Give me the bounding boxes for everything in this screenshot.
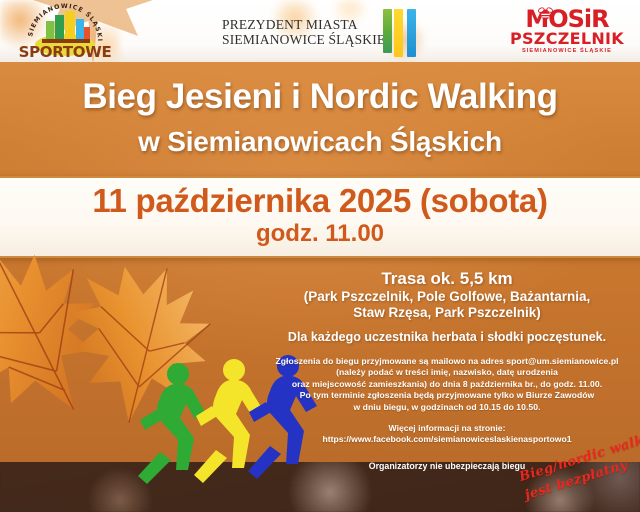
bee-icon (537, 5, 554, 22)
event-details: Trasa ok. 5,5 km (Park Pszczelnik, Pole … (258, 268, 636, 472)
svg-text:SPORTOWE: SPORTOWE (19, 43, 112, 61)
flag-bar-yellow (394, 9, 403, 57)
registration-line3: oraz miejscowość zamieszkania) do dnia 8… (258, 379, 636, 390)
page-subtitle: w Siemianowicach Śląskich (0, 125, 640, 159)
flag-bar-blue (407, 9, 416, 57)
route-places-line1: (Park Pszczelnik, Pole Golfowe, Bażantar… (258, 289, 636, 305)
president-line1: PREZYDENT MIASTA (222, 18, 385, 33)
more-info-label: Więcej informacji na stronie: (258, 423, 636, 434)
mosir-wordmark: MOSiR (510, 8, 624, 30)
registration-line2: (należy podać w treści imię, nazwisko, d… (258, 367, 636, 378)
event-poster: SIEMIANOWICE ŚLĄSKIE SPORTOWE PREZYDENT … (0, 0, 640, 512)
president-caption: PREZYDENT MIASTA SIEMIANOWICE ŚLĄSKIE (222, 18, 385, 47)
registration-line5: w dniu biegu, w godzinach od 10.15 do 10… (258, 402, 636, 413)
refreshments-note: Dla każdego uczestnika herbata i słodki … (258, 330, 636, 345)
city-flag-bars-icon (383, 9, 419, 57)
facebook-link[interactable]: https://www.facebook.com/siemianowicesla… (258, 434, 636, 445)
registration-line4: Po tym terminie zgłoszenia będą przyjmow… (258, 390, 636, 401)
event-date: 11 października 2025 (sobota) (0, 182, 640, 220)
runner-green-icon (138, 363, 206, 484)
mosir-city: SIEMIANOWICE ŚLĄSKIE (510, 47, 624, 55)
president-line2: SIEMIANOWICE ŚLĄSKIE (222, 33, 385, 48)
registration-info: Zgłoszenia do biegu przyjmowane są mailo… (258, 356, 636, 413)
route-places-line2: Staw Rzęsa, Park Pszczelnik) (258, 305, 636, 321)
sportowe-logo: SIEMIANOWICE ŚLĄSKIE SPORTOWE (18, 1, 112, 61)
flag-bar-green (383, 9, 392, 53)
page-title: Bieg Jesieni i Nordic Walking (0, 76, 640, 118)
mosir-logo: MOSiR PSZCZELNIK SIEMIANOWICE ŚLĄSKIE (510, 8, 624, 55)
route-title: Trasa ok. 5,5 km (258, 268, 636, 289)
more-info: Więcej informacji na stronie: https://ww… (258, 423, 636, 446)
registration-line1: Zgłoszenia do biegu przyjmowane są mailo… (258, 356, 636, 367)
runner-yellow-icon (194, 359, 263, 483)
